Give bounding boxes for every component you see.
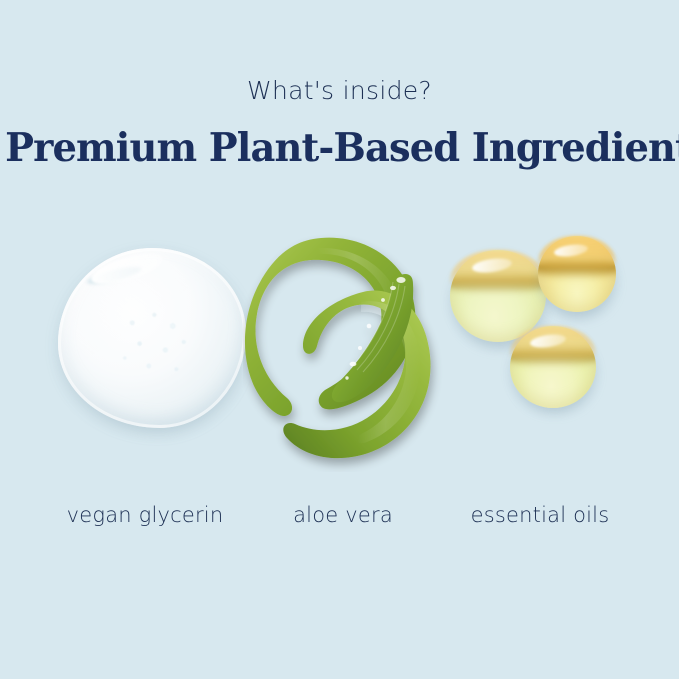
ingredient-item-aloe-vera bbox=[243, 222, 443, 472]
glycerin-gel-blob-icon bbox=[30, 222, 270, 472]
ingredient-item-essential-oils bbox=[436, 222, 646, 472]
ingredient-label-aloe-vera: aloe vera bbox=[243, 500, 443, 530]
page-title: Premium Plant-Based Ingredients bbox=[5, 127, 674, 169]
aloe-vera-svg bbox=[243, 222, 443, 472]
ingredients-infographic: What's inside? Premium Plant-Based Ingre… bbox=[0, 0, 679, 679]
ingredient-image-row bbox=[0, 222, 679, 472]
ingredient-label-vegan-glycerin: vegan glycerin bbox=[45, 500, 245, 530]
glycerin-bubbles bbox=[112, 302, 204, 382]
header: What's inside? Premium Plant-Based Ingre… bbox=[0, 0, 679, 169]
essential-oil-droplets-icon bbox=[436, 222, 646, 472]
eyebrow-text: What's inside? bbox=[0, 78, 679, 103]
aloe-leaf-group bbox=[245, 238, 431, 458]
aloe-vera-leaves-icon bbox=[243, 222, 443, 472]
ingredient-item-vegan-glycerin bbox=[30, 222, 270, 472]
ingredient-label-essential-oils: essential oils bbox=[440, 500, 640, 530]
ingredient-label-row: vegan glycerin aloe vera essential oils bbox=[0, 500, 679, 540]
